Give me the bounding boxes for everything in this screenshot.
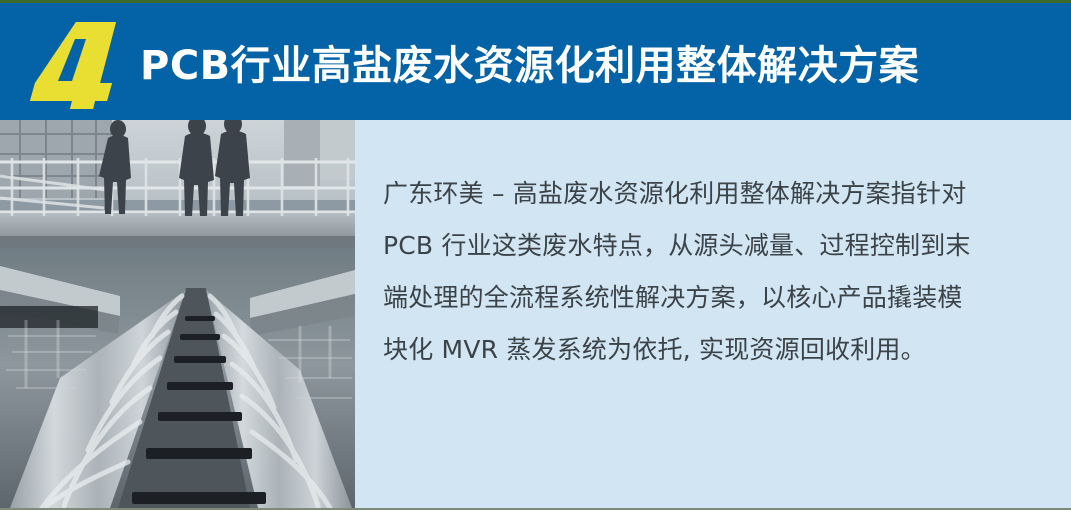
description-line-4: 块化 MVR 蒸发系统为依托, 实现资源回收利用。 — [383, 324, 1033, 376]
wastewater-basin-photo — [0, 120, 355, 508]
content-area: 广东环美 – 高盐废水资源化利用整体解决方案指针对 PCB 行业这类废水特点，从… — [0, 120, 1071, 510]
description-line-2: PCB 行业这类废水特点，从源头减量、过程控制到末 — [383, 220, 1033, 272]
description-panel: 广东环美 – 高盐废水资源化利用整体解决方案指针对 PCB 行业这类废水特点，从… — [355, 120, 1071, 510]
section-number-4-icon — [28, 17, 124, 109]
header-band: PCB行业高盐废水资源化利用整体解决方案 — [0, 3, 1071, 120]
solution-banner-card: PCB行业高盐废水资源化利用整体解决方案 — [0, 0, 1071, 510]
description-line-1: 广东环美 – 高盐废水资源化利用整体解决方案指针对 — [383, 168, 1033, 220]
description-paragraph: 广东环美 – 高盐废水资源化利用整体解决方案指针对 PCB 行业这类废水特点，从… — [383, 168, 1033, 376]
page-title: PCB行业高盐废水资源化利用整体解决方案 — [140, 33, 919, 91]
description-line-3: 端处理的全流程系统性解决方案，以核心产品撬装模 — [383, 272, 1033, 324]
